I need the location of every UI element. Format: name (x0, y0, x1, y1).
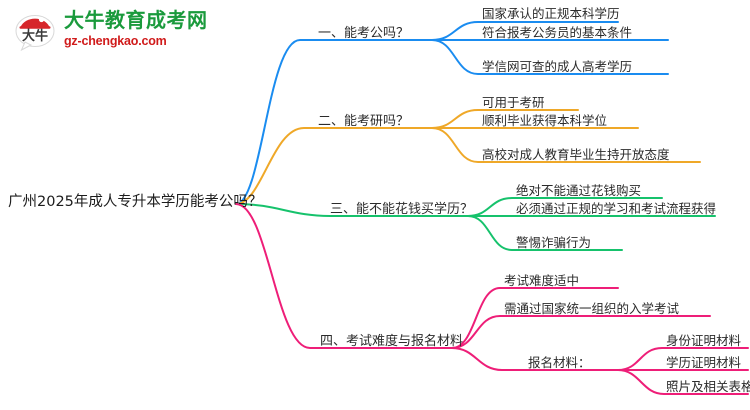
connector-branch4-child1 (452, 288, 618, 348)
mindmap-node-branch2-child2[interactable]: 顺利毕业获得本科学位 (482, 115, 607, 128)
mindmap-node-materials-child3[interactable]: 照片及相关表格 (666, 381, 750, 394)
mindmap-node-materials-child2[interactable]: 学历证明材料 (666, 357, 741, 370)
connector-root-to-branch4 (236, 204, 452, 348)
mindmap-node-branch1-child1[interactable]: 国家承认的正规本科学历 (482, 8, 620, 21)
mindmap-node-branch2-child3[interactable]: 高校对成人教育毕业生持开放态度 (482, 149, 670, 162)
mindmap-branch-3[interactable]: 三、能不能花钱买学历？ (330, 203, 473, 216)
mindmap-node-materials-child1[interactable]: 身份证明材料 (666, 335, 741, 348)
mindmap-node-registration-materials[interactable]: 报名材料： (528, 357, 591, 370)
mindmap-node-branch3-child2[interactable]: 必须通过正规的学习和考试流程获得 (516, 203, 716, 216)
mindmap-branch-4[interactable]: 四、考试难度与报名材料 (320, 335, 463, 348)
mindmap-branch-1[interactable]: 一、能考公吗？ (318, 27, 409, 40)
mindmap-node-branch4-child1[interactable]: 考试难度适中 (504, 275, 579, 288)
mindmap-node-branch3-child3[interactable]: 警惕诈骗行为 (516, 237, 591, 250)
mindmap-node-branch4-child2[interactable]: 需通过国家统一组织的入学考试 (504, 303, 679, 316)
mindmap-node-branch1-child2[interactable]: 符合报考公务员的基本条件 (482, 27, 632, 40)
connector-root-to-branch2 (236, 128, 432, 204)
mindmap-branch-2[interactable]: 二、能考研吗？ (318, 115, 409, 128)
mindmap-root-node[interactable]: 广州2025年成人专升本学历能考公吗？ (8, 195, 262, 210)
mindmap-node-branch3-child1[interactable]: 绝对不能通过花钱购买 (516, 185, 641, 198)
mindmap-node-branch2-child1[interactable]: 可用于考研 (482, 97, 545, 110)
mindmap-node-branch1-child3[interactable]: 学信网可查的成人高考学历 (482, 61, 632, 74)
